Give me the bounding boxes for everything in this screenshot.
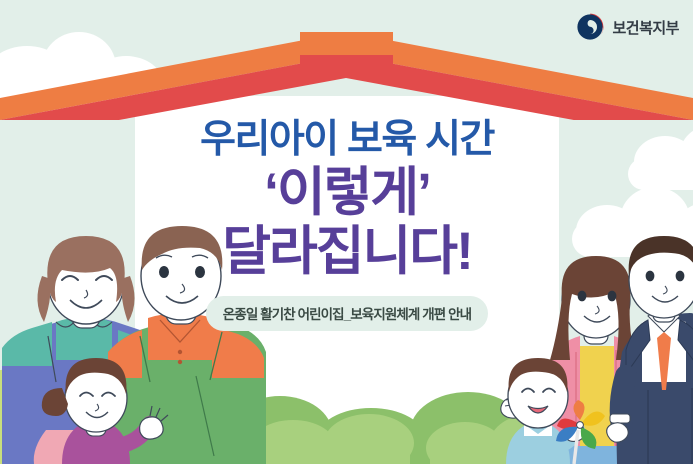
subtitle-pill: 온종일 활기찬 어린이집_보육지원체계 개편 안내 [206, 296, 488, 331]
title-line-1: 우리아이 보육 시간 [135, 118, 559, 162]
poster-root: 보건복지부 우리아이 보육 시간 ‘이렇게’ 달라집니다! 온종일 활기찬 어린… [0, 0, 693, 464]
ministry-logo: 보건복지부 [575, 12, 679, 42]
cloud-right-middle-icon [572, 185, 693, 255]
ministry-logo-text: 보건복지부 [612, 17, 679, 38]
title-line-2: ‘이렇게’ [135, 164, 559, 221]
title-line-3: 달라집니다! [135, 223, 559, 280]
bush-cluster-front-left [110, 414, 410, 464]
taegeuk-emblem-icon [575, 12, 605, 42]
cloud-right-upper-icon [628, 128, 693, 190]
title-block: 우리아이 보육 시간 ‘이렇게’ 달라집니다! 온종일 활기찬 어린이집_보육지… [135, 118, 559, 331]
bush-cluster-front-right [430, 420, 640, 464]
